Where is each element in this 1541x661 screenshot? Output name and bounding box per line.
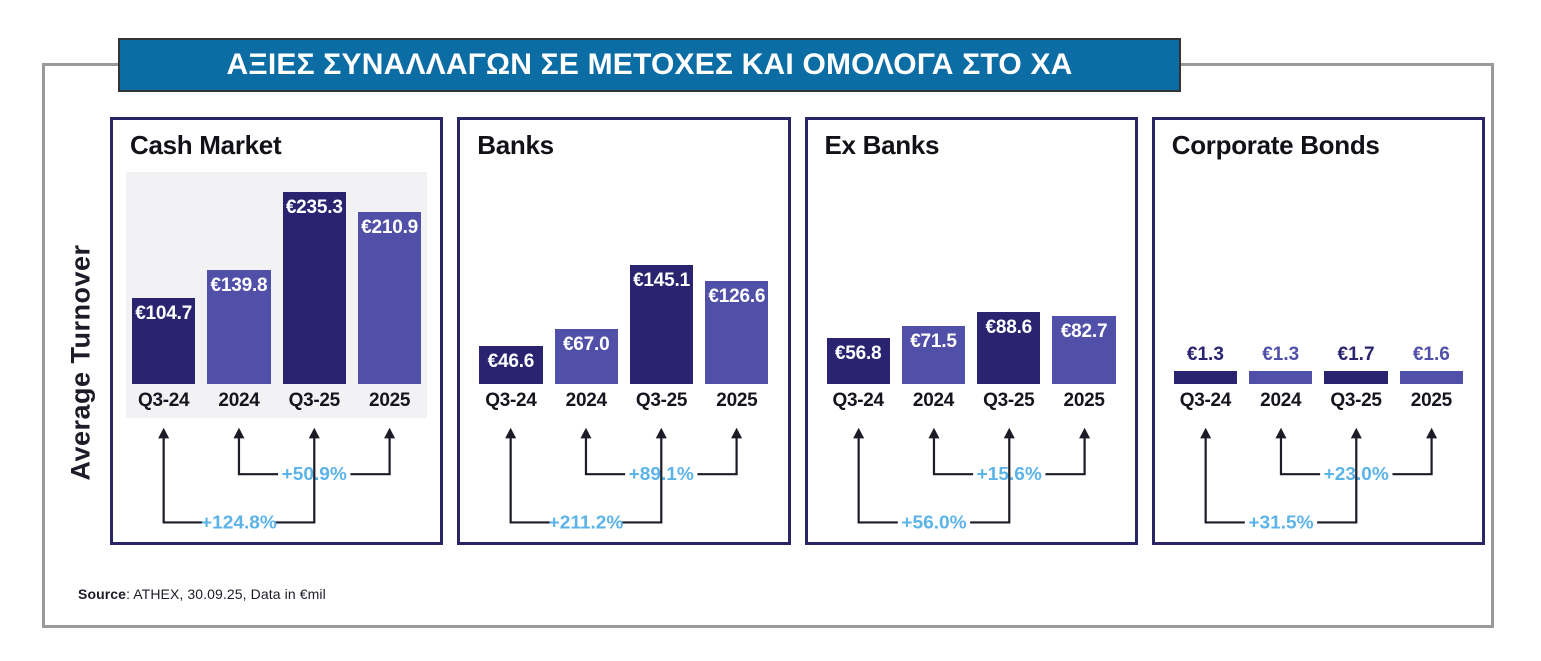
bar: €56.8 [827,338,890,384]
category-label: 2025 [358,390,421,412]
annotation-arrowhead [853,428,864,439]
bar-value-label: €56.8 [835,343,882,365]
annotation-bracket [511,437,550,522]
plot-area: €56.8€71.5€88.6€82.7Q3-242024Q3-252025 [821,172,1122,418]
category-label: Q3-25 [1324,390,1387,412]
category-label: Q3-25 [283,390,346,412]
category-label: 2025 [1400,390,1463,412]
bar: €88.6 [977,312,1040,384]
title-banner: ΑΞΙΕΣ ΣΥΝΑΛΛΑΓΩΝ ΣΕ ΜΕΤΟΧΕΣ ΚΑΙ ΟΜΟΛΟΓΑ … [118,38,1181,92]
annotation-arrowhead [158,428,169,439]
annotation-arrowhead [384,428,395,439]
annotation-bracket [586,437,625,474]
bar-value-label: €126.6 [708,286,765,308]
bar-value-label: €104.7 [135,303,192,325]
bar-column: €1.6 [1400,178,1463,384]
panel-title: Corporate Bonds [1172,130,1380,161]
annotation-bracket [1045,437,1084,474]
bar-column: €56.8 [827,178,890,384]
panel-title: Banks [477,130,554,161]
annotation-arrowhead [505,428,516,439]
bar-column: €88.6 [977,178,1040,384]
annotation-bracket [164,437,203,522]
annotation-arrowhead [1079,428,1090,439]
annotation-bracket [1205,437,1244,522]
category-label: 2025 [705,390,768,412]
y-axis-label: Average Turnover [60,175,102,550]
bars-area: €1.3€1.3€1.7€1.6 [1168,178,1469,384]
bar-column: €46.6 [479,178,542,384]
category-label: Q3-24 [132,390,195,412]
bar-value-label: €210.9 [361,217,418,239]
category-label: Q3-24 [1174,390,1237,412]
growth-percent-label: +56.0% [901,512,967,533]
bar: €139.8 [207,270,270,384]
bars-area: €104.7€139.8€235.3€210.9 [126,178,427,384]
annotation-bracket [933,437,972,474]
category-label: Q3-24 [479,390,542,412]
bar-column: €67.0 [555,178,618,384]
annotation-bracket [698,437,737,474]
bar-value-label: €1.6 [1413,344,1450,366]
chart-panel: Banks€46.6€67.0€145.1€126.6Q3-242024Q3-2… [457,117,790,545]
annotation-arrowhead [656,428,667,439]
category-label: 2025 [1052,390,1115,412]
source-note: Source: ATHEX, 30.09.25, Data in €mil [78,586,326,602]
annotation-arrowhead [731,428,742,439]
chart-panel: Cash Market€104.7€139.8€235.3€210.9Q3-24… [110,117,443,545]
bar-column: €1.7 [1324,178,1387,384]
growth-percent-label: +124.8% [201,512,277,533]
bars-area: €46.6€67.0€145.1€126.6 [473,178,774,384]
bar-value-label: €1.3 [1262,344,1299,366]
bar: €1.6 [1400,371,1463,384]
growth-annotations: +23.0%+31.5% [1168,420,1469,536]
panel-title: Cash Market [130,130,281,161]
bar-column: €104.7 [132,178,195,384]
category-label: Q3-25 [977,390,1040,412]
bar-value-label: €145.1 [633,270,690,292]
annotation-arrowhead [1426,428,1437,439]
chart-panel: Corporate Bonds€1.3€1.3€1.7€1.6Q3-242024… [1152,117,1485,545]
bar: €235.3 [283,192,346,384]
category-labels: Q3-242024Q3-252025 [126,386,427,416]
category-label: 2024 [555,390,618,412]
annotation-bracket [1392,437,1431,474]
annotation-arrowhead [1200,428,1211,439]
plot-area: €46.6€67.0€145.1€126.6Q3-242024Q3-252025 [473,172,774,418]
bar-value-label: €46.6 [488,351,535,373]
bar-column: €126.6 [705,178,768,384]
annotation-bracket [858,437,897,522]
y-axis-label-text: Average Turnover [66,244,97,480]
annotation-arrowhead [233,428,244,439]
chart-panel: Ex Banks€56.8€71.5€88.6€82.7Q3-242024Q3-… [805,117,1138,545]
bars-area: €56.8€71.5€88.6€82.7 [821,178,1122,384]
bar-column: €1.3 [1174,178,1237,384]
category-label: 2024 [902,390,965,412]
bar: €104.7 [132,298,195,384]
page-title: ΑΞΙΕΣ ΣΥΝΑΛΛΑΓΩΝ ΣΕ ΜΕΤΟΧΕΣ ΚΑΙ ΟΜΟΛΟΓΑ … [226,48,1072,82]
category-label: Q3-25 [630,390,693,412]
category-label: 2024 [1249,390,1312,412]
bar-value-label: €139.8 [211,275,268,297]
bar: €67.0 [555,329,618,384]
annotation-bracket [239,437,278,474]
bar: €71.5 [902,326,965,384]
category-labels: Q3-242024Q3-252025 [473,386,774,416]
infographic-root: ΑΞΙΕΣ ΣΥΝΑΛΛΑΓΩΝ ΣΕ ΜΕΤΟΧΕΣ ΚΑΙ ΟΜΟΛΟΓΑ … [0,0,1541,661]
bar: €82.7 [1052,316,1115,384]
category-label: Q3-24 [827,390,890,412]
bar-column: €235.3 [283,178,346,384]
bar-column: €139.8 [207,178,270,384]
category-label: 2024 [207,390,270,412]
annotation-arrowhead [581,428,592,439]
bar: €126.6 [705,281,768,384]
bar: €46.6 [479,346,542,384]
bar: €210.9 [358,212,421,384]
source-label: Source [78,586,126,602]
bar-value-label: €1.3 [1187,344,1224,366]
annotation-arrowhead [309,428,320,439]
growth-annotations: +15.6%+56.0% [821,420,1122,536]
bar-column: €1.3 [1249,178,1312,384]
annotation-bracket [350,437,389,474]
growth-percent-label: +31.5% [1248,512,1314,533]
annotation-arrowhead [1003,428,1014,439]
growth-annotations: +89.1%+211.2% [473,420,774,536]
plot-area: €1.3€1.3€1.7€1.6Q3-242024Q3-252025 [1168,172,1469,418]
chart-panels: Cash Market€104.7€139.8€235.3€210.9Q3-24… [110,117,1485,545]
category-labels: Q3-242024Q3-252025 [821,386,1122,416]
bar-column: €145.1 [630,178,693,384]
plot-area: €104.7€139.8€235.3€210.9Q3-242024Q3-2520… [126,172,427,418]
annotation-bracket [1281,437,1320,474]
bar-column: €210.9 [358,178,421,384]
source-text: : ATHEX, 30.09.25, Data in €mil [126,586,326,602]
growth-percent-label: +211.2% [549,512,624,533]
bar-value-label: €71.5 [910,331,957,353]
bar: €145.1 [630,265,693,384]
annotation-arrowhead [1351,428,1362,439]
bar-column: €71.5 [902,178,965,384]
bar-value-label: €1.7 [1338,344,1375,366]
bar-value-label: €88.6 [986,317,1033,339]
annotation-arrowhead [928,428,939,439]
category-labels: Q3-242024Q3-252025 [1168,386,1469,416]
bar-value-label: €82.7 [1061,321,1108,343]
panel-title: Ex Banks [825,130,940,161]
bar: €1.3 [1174,371,1237,384]
bar-value-label: €67.0 [563,334,610,356]
growth-annotations: +50.9%+124.8% [126,420,427,536]
bar: €1.3 [1249,371,1312,384]
bar-value-label: €235.3 [286,197,343,219]
bar: €1.7 [1324,371,1387,384]
bar-column: €82.7 [1052,178,1115,384]
annotation-arrowhead [1275,428,1286,439]
